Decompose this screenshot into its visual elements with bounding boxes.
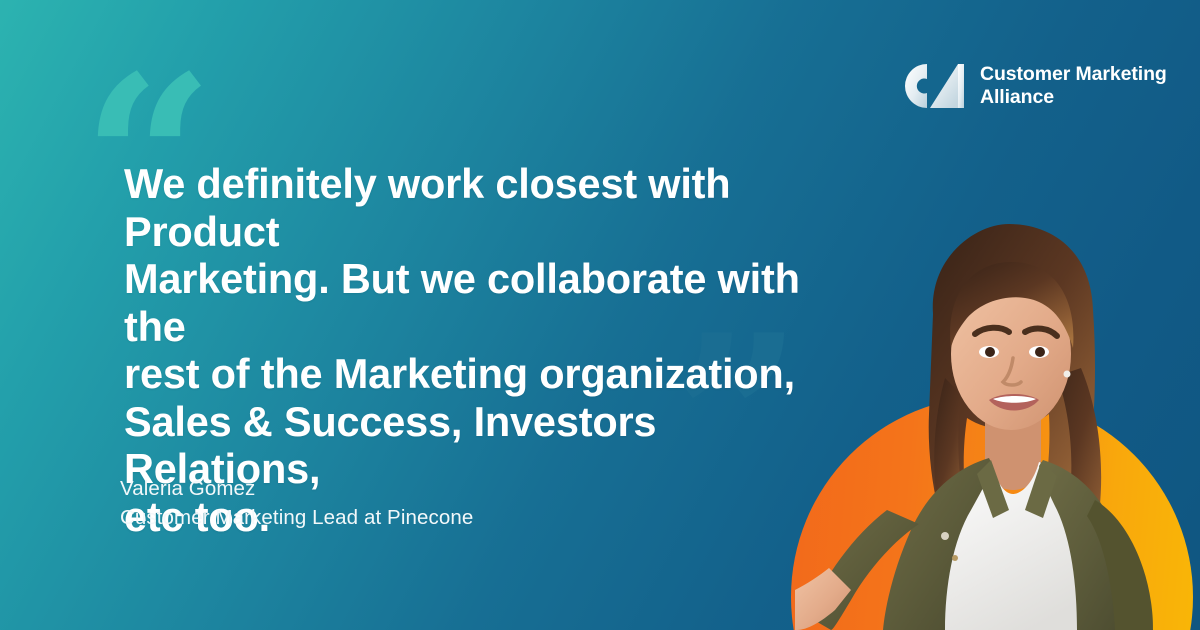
attribution-role: Customer Marketing Lead at Pinecone [120,503,473,532]
brand-logo-text: Customer Marketing Alliance [980,63,1167,109]
cma-monogram-icon [903,62,966,110]
quote-card: “ ” We definitely work closest with Prod… [0,0,1200,630]
brand-logo: Customer Marketing Alliance [903,62,1167,110]
portrait-photo [795,218,1193,630]
attribution-name: Valeria Gomez [120,474,473,503]
attribution: Valeria Gomez Customer Marketing Lead at… [120,474,473,532]
